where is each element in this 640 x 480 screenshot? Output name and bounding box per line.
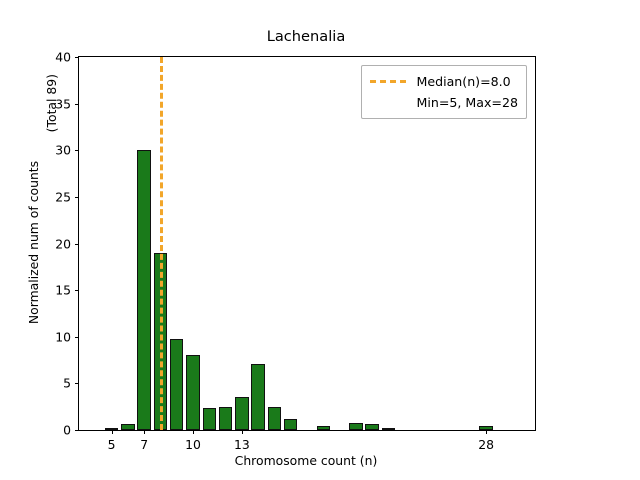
x-axis-label: Chromosome count (n) xyxy=(78,453,534,468)
y-tick-mark xyxy=(75,150,79,151)
y-tick-label: 15 xyxy=(55,283,71,298)
chart-legend: Median(n)=8.0 Min=5, Max=28 xyxy=(361,65,527,119)
x-tick-mark xyxy=(242,430,243,434)
legend-label-median: Median(n)=8.0 xyxy=(416,74,510,89)
legend-entry-minmax: Min=5, Max=28 xyxy=(370,93,518,112)
median-line xyxy=(160,57,163,430)
y-tick-label: 10 xyxy=(55,329,71,344)
x-tick-label: 7 xyxy=(140,437,148,452)
x-tick-label: 10 xyxy=(185,437,201,452)
y-tick-mark xyxy=(75,104,79,105)
y-tick-mark xyxy=(75,430,79,431)
y-tick-label: 25 xyxy=(55,189,71,204)
x-tick-label: 28 xyxy=(478,437,494,452)
y-tick-label: 40 xyxy=(55,50,71,65)
y-tick-mark xyxy=(75,57,79,58)
x-tick-mark xyxy=(486,430,487,434)
y-tick-label: 30 xyxy=(55,143,71,158)
legend-entry-median: Median(n)=8.0 xyxy=(370,72,518,91)
chart-title: Lachenalia xyxy=(78,28,534,46)
y-tick-mark xyxy=(75,197,79,198)
y-tick-mark xyxy=(75,383,79,384)
dashed-line-icon xyxy=(370,80,406,83)
y-axis-label: Normalized num of counts xyxy=(26,56,42,429)
y-tick-mark xyxy=(75,244,79,245)
y-tick-label: 0 xyxy=(63,423,71,438)
x-tick-label: 5 xyxy=(108,437,116,452)
plot-area: 0510152025303540 57101328 Median(n)=8.0 … xyxy=(78,56,536,431)
chart-figure: Lachenalia Normalized num of counts (Tot… xyxy=(0,0,640,480)
y-tick-mark xyxy=(75,337,79,338)
x-tick-mark xyxy=(144,430,145,434)
y-tick-mark xyxy=(75,290,79,291)
y-tick-label: 35 xyxy=(55,96,71,111)
legend-label-minmax: Min=5, Max=28 xyxy=(416,95,518,110)
x-tick-label: 13 xyxy=(234,437,250,452)
x-tick-mark xyxy=(112,430,113,434)
x-tick-mark xyxy=(193,430,194,434)
y-tick-label: 5 xyxy=(63,376,71,391)
y-tick-label: 20 xyxy=(55,236,71,251)
